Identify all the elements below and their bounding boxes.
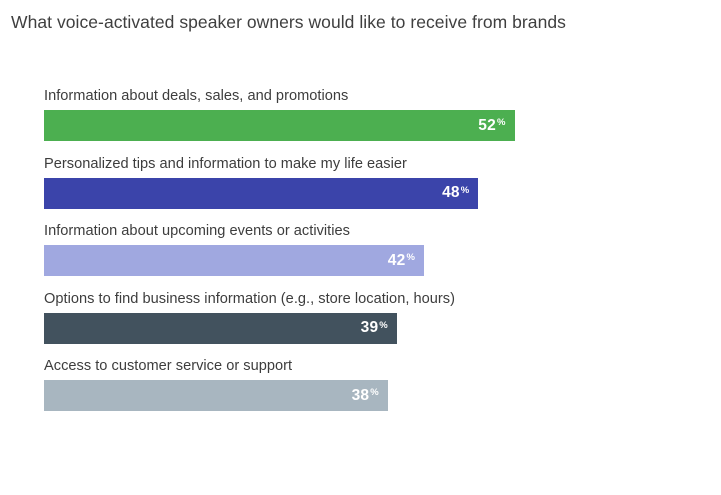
bar-group-4: Options to find business information (e.…	[44, 289, 704, 344]
bar-value-5: 38%	[352, 388, 379, 404]
bar-track-5: 38%	[44, 380, 704, 411]
bar-label-1: Information about deals, sales, and prom…	[44, 86, 704, 106]
bar-label-3: Information about upcoming events or act…	[44, 221, 704, 241]
bar-track-3: 42%	[44, 245, 704, 276]
bar-group-3: Information about upcoming events or act…	[44, 221, 704, 276]
bar-group-2: Personalized tips and information to mak…	[44, 154, 704, 209]
percent-symbol-1: %	[497, 118, 506, 128]
bar-chart: What voice-activated speaker owners woul…	[0, 0, 721, 495]
percent-symbol-4: %	[379, 321, 388, 331]
bar-fill-4[interactable]: 39%	[44, 313, 397, 344]
bar-fill-3[interactable]: 42%	[44, 245, 424, 276]
percent-symbol-2: %	[461, 186, 470, 196]
bar-label-4: Options to find business information (e.…	[44, 289, 704, 309]
bar-fill-5[interactable]: 38%	[44, 380, 388, 411]
bar-value-number-1: 52	[478, 118, 496, 134]
bar-label-2: Personalized tips and information to mak…	[44, 154, 704, 174]
bar-fill-2[interactable]: 48%	[44, 178, 478, 209]
bar-fill-1[interactable]: 52%	[44, 110, 515, 141]
bar-list: Information about deals, sales, and prom…	[44, 86, 704, 424]
bar-group-5: Access to customer service or support 38…	[44, 356, 704, 411]
bar-value-2: 48%	[442, 185, 469, 201]
chart-title: What voice-activated speaker owners woul…	[11, 10, 566, 34]
bar-track-2: 48%	[44, 178, 704, 209]
bar-value-number-2: 48	[442, 185, 460, 201]
bar-label-5: Access to customer service or support	[44, 356, 704, 376]
bar-group-1: Information about deals, sales, and prom…	[44, 86, 704, 141]
bar-track-1: 52%	[44, 110, 704, 141]
bar-value-3: 42%	[388, 253, 415, 269]
bar-value-4: 39%	[361, 320, 388, 336]
percent-symbol-3: %	[406, 253, 415, 263]
bar-value-number-3: 42	[388, 253, 406, 269]
bar-value-number-4: 39	[361, 320, 379, 336]
bar-value-number-5: 38	[352, 388, 370, 404]
bar-value-1: 52%	[478, 118, 505, 134]
bar-track-4: 39%	[44, 313, 704, 344]
percent-symbol-5: %	[370, 388, 379, 398]
